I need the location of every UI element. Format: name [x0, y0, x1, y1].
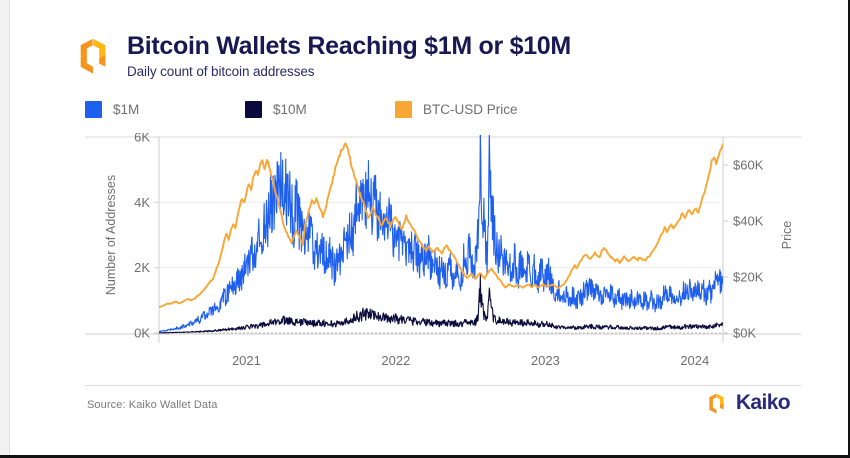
y-axis-tick-label: 4K: [134, 195, 150, 210]
legend-label: BTC-USD Price: [423, 102, 518, 117]
x-axis-tick-label: 2024: [680, 353, 709, 368]
left-edge-strip: [0, 0, 10, 458]
legend-item[interactable]: $10M: [245, 101, 395, 118]
y2-axis-tick-label: $0K: [733, 326, 756, 341]
chart-card: Bitcoin Wallets Reaching $1M or $10M Dai…: [11, 0, 848, 455]
x-axis-tick-label: 2022: [381, 353, 410, 368]
source-note: Source: Kaiko Wallet Data: [87, 399, 217, 411]
y-axis-tick-label: 2K: [134, 260, 150, 275]
x-axis-tick-label: 2021: [232, 353, 261, 368]
legend-swatch-icon: [85, 101, 102, 118]
page-subtitle: Daily count of bitcoin addresses: [127, 64, 571, 79]
legend-item[interactable]: BTC-USD Price: [395, 101, 518, 118]
kaiko-logo-icon: [75, 36, 113, 76]
y2-axis-tick-label: $60K: [733, 158, 764, 173]
series-line: [159, 133, 723, 332]
chart-screenshot: Bitcoin Wallets Reaching $1M or $10M Dai…: [0, 0, 850, 458]
page-title: Bitcoin Wallets Reaching $1M or $10M: [127, 33, 571, 59]
chart-plot-area: 0K2K4K6K$0K$20K$40K$60K2021202220232024N…: [85, 133, 801, 373]
legend-swatch-icon: [245, 101, 262, 118]
kaiko-logo-icon: [706, 392, 728, 415]
legend-label: $1M: [113, 102, 139, 117]
y-axis-tick-label: 6K: [134, 133, 150, 145]
legend-label: $10M: [273, 102, 307, 117]
legend-item[interactable]: $1M: [85, 101, 245, 118]
footer-divider: [85, 385, 801, 386]
brand-name: Kaiko: [736, 391, 790, 415]
legend-swatch-icon: [395, 101, 412, 118]
chart-legend: $1M $10M BTC-USD Price: [85, 101, 518, 118]
chart-header: Bitcoin Wallets Reaching $1M or $10M Dai…: [75, 33, 571, 79]
y-axis-tick-label: 0K: [134, 326, 150, 341]
y2-axis-title: Price: [780, 221, 794, 250]
y2-axis-tick-label: $20K: [733, 270, 764, 285]
y-axis-title: Number of Addresses: [104, 175, 118, 295]
x-axis-tick-label: 2023: [531, 353, 560, 368]
y2-axis-tick-label: $40K: [733, 214, 764, 229]
chart-svg: 0K2K4K6K$0K$20K$40K$60K2021202220232024N…: [85, 133, 801, 373]
brand-logo: Kaiko: [706, 391, 790, 415]
chart-series-group: [159, 133, 723, 333]
